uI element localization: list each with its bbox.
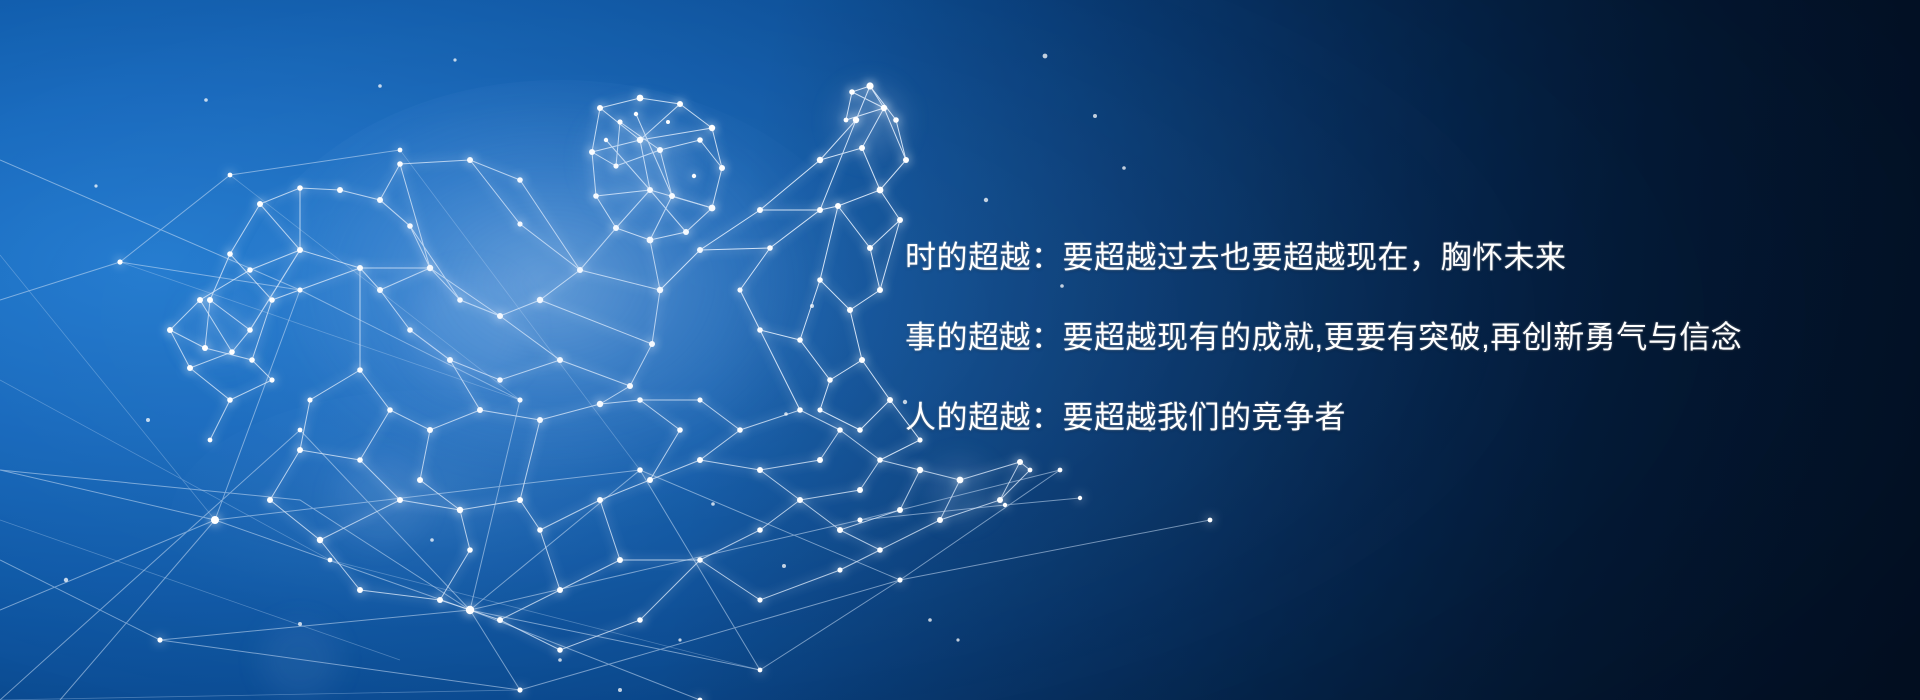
tagline-line-3: 人的超越：要超越我们的竞争者 [905, 378, 1865, 458]
tagline-line-1: 时的超越：要超越过去也要超越现在，胸怀未来 [905, 218, 1865, 298]
tagline-line-2: 事的超越：要超越现有的成就,更要有突破,再创新勇气与信念 [905, 298, 1865, 378]
tagline-block: 时的超越：要超越过去也要超越现在，胸怀未来 事的超越：要超越现有的成就,更要有突… [905, 218, 1865, 458]
hero-banner: 时的超越：要超越过去也要超越现在，胸怀未来 事的超越：要超越现有的成就,更要有突… [0, 0, 1920, 700]
